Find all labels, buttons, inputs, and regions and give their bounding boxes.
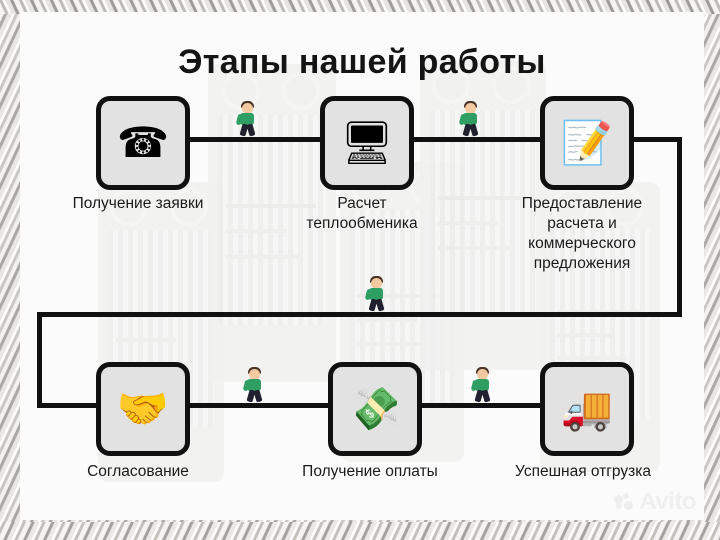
- desktop-computer-icon: 🖥: [340, 122, 393, 164]
- connector-line-5-6: [412, 403, 540, 408]
- step-1-label: Получение заявки: [38, 194, 238, 214]
- step-5-label: Получение оплаты: [274, 462, 466, 482]
- walking-person-icon: [235, 101, 261, 137]
- image-frame: Этапы нашей работы ☎ Получение заявки: [0, 0, 720, 540]
- step-2-label: Расчет теплообменика: [262, 194, 462, 234]
- step-1-box[interactable]: ☎: [96, 96, 190, 190]
- avito-watermark: Avito: [614, 488, 696, 516]
- step-5-box[interactable]: 💸: [328, 362, 422, 456]
- connector-line-4-5: [180, 403, 328, 408]
- connector-line-right-down: [677, 137, 682, 317]
- walking-person-icon: [242, 367, 268, 403]
- walking-person-icon: [364, 276, 390, 312]
- avito-dots-logo-icon: [614, 493, 634, 511]
- memo-pencil-icon: 📝: [561, 122, 613, 164]
- step-6-box[interactable]: 🚚: [540, 362, 634, 456]
- connector-line-1-2: [180, 137, 320, 142]
- infographic-canvas: Этапы нашей работы ☎ Получение заявки: [20, 12, 704, 520]
- walking-person-icon: [458, 101, 484, 137]
- money-with-wings-icon: 💸: [349, 388, 401, 430]
- step-2-box[interactable]: 🖥: [320, 96, 414, 190]
- connector-line-2-3: [404, 137, 540, 142]
- walking-person-icon: [470, 367, 496, 403]
- delivery-truck-icon: 🚚: [561, 388, 613, 430]
- step-4-box[interactable]: 🤝: [96, 362, 190, 456]
- step-3-box[interactable]: 📝: [540, 96, 634, 190]
- telephone-icon: ☎: [117, 122, 169, 164]
- step-4-label: Согласование: [48, 462, 228, 482]
- connector-line-left-down: [37, 312, 42, 408]
- step-6-label: Успешная отгрузка: [488, 462, 678, 482]
- connector-line-left-to-4: [37, 403, 103, 408]
- connector-line-middle: [37, 312, 682, 317]
- handshake-icon: 🤝: [117, 388, 169, 430]
- avito-wordmark: Avito: [639, 488, 696, 516]
- page-title: Этапы нашей работы: [20, 43, 704, 82]
- step-3-label: Предоставление расчета и коммерческого п…: [492, 194, 672, 274]
